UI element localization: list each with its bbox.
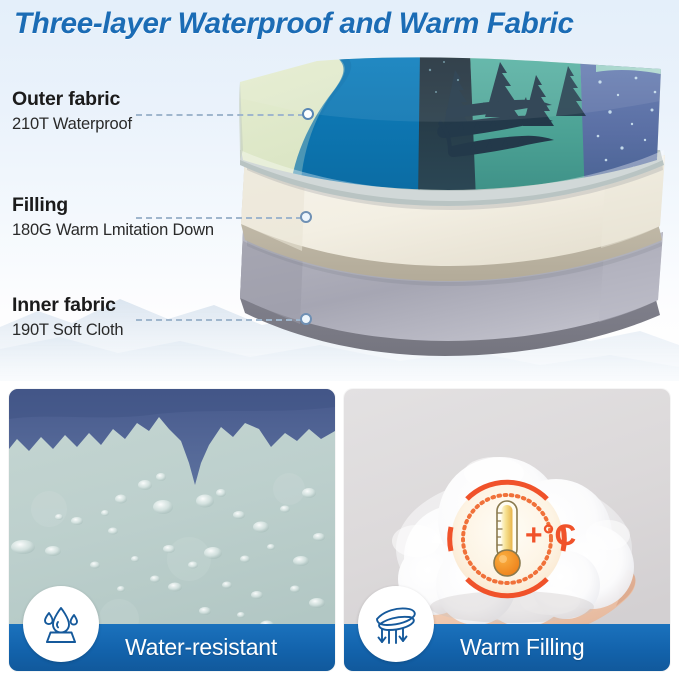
water-droplet-icon	[36, 599, 86, 649]
callout-title: Outer fabric	[12, 88, 132, 111]
callout-title: Filling	[12, 194, 214, 217]
panel-water-resistant: Water-resistant	[9, 389, 335, 671]
callout-subtitle: 180G Warm Lmitation Down	[12, 221, 214, 240]
temperature-label: +°C	[525, 519, 576, 552]
callout-dot-icon	[300, 211, 312, 223]
panel-warm-filling: +°C Warm Filling	[344, 389, 670, 671]
dashed-line-connector-icon	[136, 319, 302, 323]
thermometer-icon	[494, 501, 520, 576]
callout-outer-fabric: Outer fabric 210T Waterproof	[12, 88, 132, 134]
callout-subtitle: 190T Soft Cloth	[12, 321, 123, 340]
outer-fabric-layer	[230, 50, 678, 206]
callout-inner-fabric: Inner fabric 190T Soft Cloth	[12, 294, 123, 340]
fabric-layers-section: Three-layer Waterproof and Warm Fabric	[0, 0, 679, 381]
thermal-insulation-icon	[371, 599, 421, 649]
callout-dot-icon	[302, 108, 314, 120]
callout-dot-icon	[300, 313, 312, 325]
dashed-line-connector-icon	[136, 217, 302, 221]
thermal-insulation-icon-badge	[358, 586, 434, 662]
callout-title: Inner fabric	[12, 294, 123, 317]
panel-caption-text: Water-resistant	[125, 634, 277, 661]
infographic-root: Three-layer Waterproof and Warm Fabric	[0, 0, 679, 679]
panel-caption-text: Warm Filling	[460, 634, 585, 661]
callout-subtitle: 210T Waterproof	[12, 115, 132, 134]
water-droplet-icon-badge	[23, 586, 99, 662]
feature-panels: Water-resistant	[0, 381, 679, 679]
dashed-line-connector-icon	[136, 114, 304, 118]
